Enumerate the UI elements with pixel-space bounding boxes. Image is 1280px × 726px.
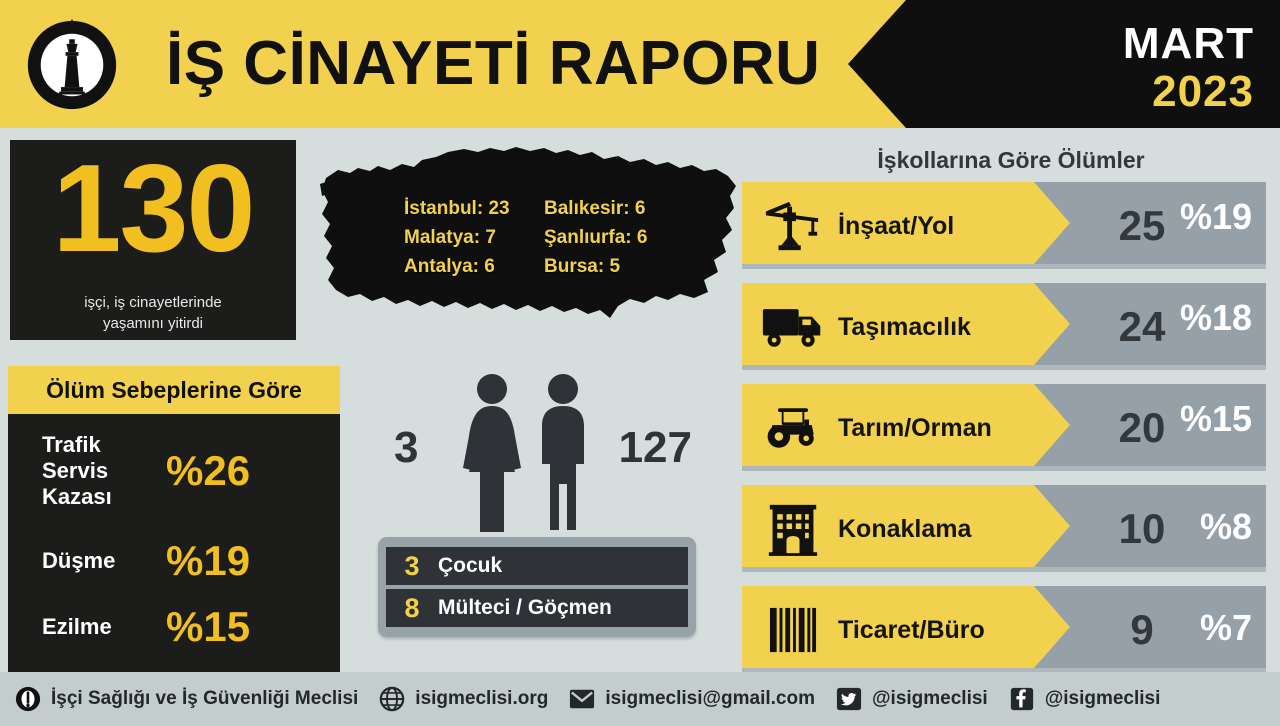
male-death-count: 127 bbox=[619, 424, 692, 472]
city-death-list: İstanbul: 23 Balıkesir: 6 Malatya: 7 Şan… bbox=[404, 198, 647, 278]
cause-row: Ezilme %15 bbox=[8, 604, 340, 650]
male-figure-icon bbox=[542, 374, 584, 530]
sector-row: Tarım/Orman 20 %15 bbox=[742, 384, 1266, 472]
total-deaths-caption-line1: işçi, iş cinayetlerinde bbox=[10, 292, 296, 313]
facebook-icon bbox=[1008, 685, 1036, 713]
cause-label-line: Düşme bbox=[42, 548, 166, 574]
sector-row: Taşımacılık 24 %18 bbox=[742, 283, 1266, 371]
city-count: 23 bbox=[488, 198, 509, 219]
sector-row: Ticaret/Büro 9 %7 bbox=[742, 586, 1266, 674]
sector-label: Ticaret/Büro bbox=[838, 615, 985, 645]
sector-percent: %8 bbox=[1200, 507, 1252, 547]
extra-label: Çocuk bbox=[438, 553, 502, 579]
child-refugee-panel: 3 Çocuk 8 Mülteci / Göçmen bbox=[378, 537, 696, 637]
cause-label: Düşme bbox=[8, 548, 166, 574]
total-deaths-card: 130 işçi, iş cinayetlerinde yaşamını yit… bbox=[10, 140, 296, 340]
total-deaths-value: 130 bbox=[10, 134, 296, 284]
header-bar: İŞ CİNAYETİ RAPORU MART 2023 bbox=[0, 0, 1280, 128]
extra-label: Mülteci / Göçmen bbox=[438, 595, 612, 621]
twitter-icon bbox=[835, 685, 863, 713]
cause-label-line: Servis bbox=[42, 458, 166, 484]
sector-row: Konaklama 10 %8 bbox=[742, 485, 1266, 573]
footer-item-twitter[interactable]: @isigmeclisi bbox=[835, 685, 988, 713]
extra-row: 3 Çocuk bbox=[386, 547, 688, 585]
cause-value: %15 bbox=[166, 604, 250, 650]
sector-label: İnşaat/Yol bbox=[838, 211, 954, 241]
city-entry: Şanlıurfa: 6 bbox=[544, 227, 647, 249]
city-name: Balıkesir: bbox=[544, 198, 630, 219]
cause-value: %19 bbox=[166, 538, 250, 584]
city-entry: Malatya: 7 bbox=[404, 227, 528, 249]
footer-text: @isigmeclisi bbox=[872, 688, 988, 710]
footer-text: isigmeclisi@gmail.com bbox=[605, 688, 815, 710]
cause-label-line: Trafik bbox=[42, 432, 166, 458]
causes-title: Ölüm Sebeplerine Göre bbox=[8, 366, 340, 414]
total-deaths-caption-line2: yaşamını yitirdi bbox=[10, 313, 296, 334]
sector-label: Tarım/Orman bbox=[838, 413, 992, 443]
sectors-title: İşkollarına Göre Ölümler bbox=[742, 146, 1280, 174]
city-name: Antalya: bbox=[404, 256, 479, 277]
city-entry: Antalya: 6 bbox=[404, 256, 528, 278]
barcode-icon bbox=[756, 599, 830, 661]
globe-icon bbox=[378, 685, 406, 713]
footer-bar: İşçi Sağlığı ve İş Güvenliği Meclisi isi… bbox=[0, 672, 1280, 726]
causes-panel: Ölüm Sebeplerine Göre Trafik Servis Kaza… bbox=[8, 366, 340, 672]
city-name: Malatya: bbox=[404, 227, 480, 248]
city-count: 6 bbox=[484, 256, 495, 277]
sector-count: 10 bbox=[1086, 506, 1198, 552]
sector-count: 9 bbox=[1086, 607, 1198, 653]
sector-percent: %19 bbox=[1180, 197, 1252, 237]
sectors-list: İnşaat/Yol 25 %19 bbox=[742, 182, 1266, 687]
city-entry: Balıkesir: 6 bbox=[544, 198, 647, 220]
hotel-icon bbox=[756, 498, 830, 560]
cause-label-line: Ezilme bbox=[42, 614, 166, 640]
extra-row: 8 Mülteci / Göçmen bbox=[386, 589, 688, 627]
cause-label: Trafik Servis Kazası bbox=[8, 432, 166, 510]
sector-label: Taşımacılık bbox=[838, 312, 971, 342]
city-count: 5 bbox=[609, 256, 620, 277]
city-name: İstanbul: bbox=[404, 198, 483, 219]
gender-breakdown: 3 127 bbox=[370, 372, 700, 532]
footer-item-organization: İşçi Sağlığı ve İş Güvenliği Meclisi bbox=[14, 685, 358, 713]
report-year: 2023 bbox=[1152, 68, 1254, 116]
city-entry: İstanbul: 23 bbox=[404, 198, 528, 220]
extra-count: 3 bbox=[386, 551, 438, 581]
cause-label-line: Kazası bbox=[42, 484, 166, 510]
crane-icon bbox=[756, 195, 830, 257]
cause-value: %26 bbox=[166, 448, 250, 494]
isig-logo-icon bbox=[14, 685, 42, 713]
footer-item-website[interactable]: isigmeclisi.org bbox=[378, 685, 548, 713]
city-count: 6 bbox=[637, 227, 648, 248]
turkey-map-panel: İstanbul: 23 Balıkesir: 6 Malatya: 7 Şan… bbox=[318, 140, 742, 348]
infographic-poster: İŞ CİNAYETİ RAPORU MART 2023 130 işçi, i… bbox=[0, 0, 1280, 726]
footer-text: @isigmeclisi bbox=[1045, 688, 1161, 710]
sector-percent: %7 bbox=[1200, 608, 1252, 648]
footer-text: İşçi Sağlığı ve İş Güvenliği Meclisi bbox=[51, 688, 358, 710]
cause-row: Trafik Servis Kazası %26 bbox=[8, 432, 340, 510]
city-count: 6 bbox=[635, 198, 646, 219]
tractor-icon bbox=[756, 397, 830, 459]
truck-icon bbox=[756, 296, 830, 358]
city-name: Şanlıurfa: bbox=[544, 227, 632, 248]
cause-row: Düşme %19 bbox=[8, 538, 340, 584]
isig-lighthouse-logo-icon bbox=[26, 19, 118, 111]
sector-percent: %18 bbox=[1180, 298, 1252, 338]
sector-row: İnşaat/Yol 25 %19 bbox=[742, 182, 1266, 270]
female-death-count: 3 bbox=[394, 424, 418, 472]
footer-item-email[interactable]: isigmeclisi@gmail.com bbox=[568, 685, 815, 713]
envelope-icon bbox=[568, 685, 596, 713]
report-month: MART bbox=[1123, 20, 1254, 68]
city-count: 7 bbox=[485, 227, 496, 248]
city-entry: Bursa: 5 bbox=[544, 256, 647, 278]
extra-count: 8 bbox=[386, 593, 438, 623]
cause-label: Ezilme bbox=[8, 614, 166, 640]
page-title: İŞ CİNAYETİ RAPORU bbox=[166, 27, 820, 101]
sector-label: Konaklama bbox=[838, 514, 971, 544]
footer-item-facebook[interactable]: @isigmeclisi bbox=[1008, 685, 1161, 713]
footer-text: isigmeclisi.org bbox=[415, 688, 548, 710]
sector-percent: %15 bbox=[1180, 399, 1252, 439]
city-name: Bursa: bbox=[544, 256, 604, 277]
female-figure-icon bbox=[463, 374, 521, 532]
